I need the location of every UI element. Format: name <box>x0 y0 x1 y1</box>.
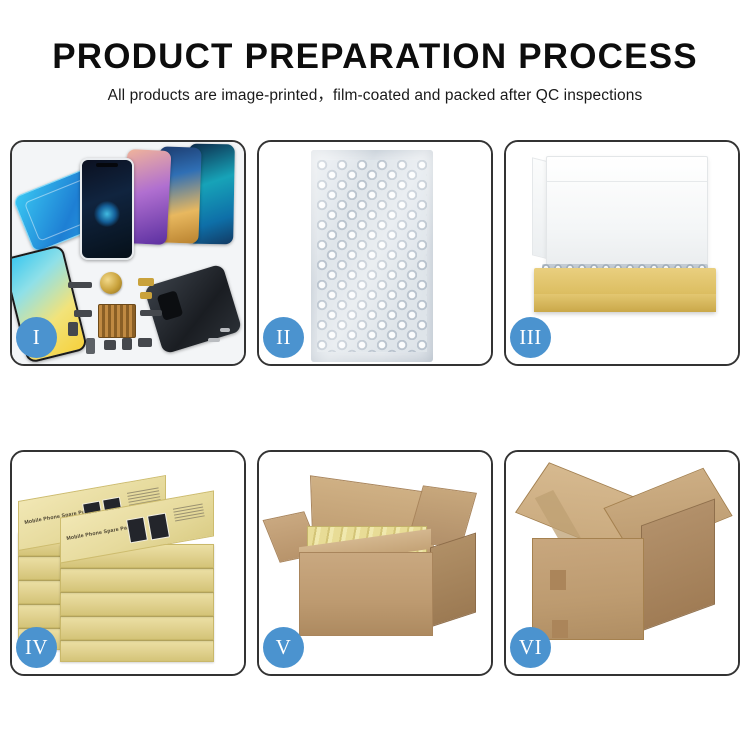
small-part-icon <box>138 338 152 347</box>
plastic-sheen <box>311 150 433 362</box>
carton-side-panel <box>430 533 476 628</box>
small-part-icon <box>104 340 116 350</box>
speaker-coil-icon <box>100 272 122 294</box>
bubble-wrap-icon <box>311 150 433 362</box>
step-badge-3: III <box>510 317 551 358</box>
stacked-box <box>60 640 214 662</box>
process-step-card-6: VI <box>504 450 740 676</box>
small-part-icon <box>68 282 92 288</box>
small-part-icon <box>122 338 132 350</box>
step-badge-5: V <box>263 627 304 668</box>
stacked-box <box>60 592 214 616</box>
process-step-grid: I II III <box>10 140 740 676</box>
process-step-card-3: III <box>504 140 740 366</box>
page-title: PRODUCT PREPARATION PROCESS <box>0 36 750 78</box>
small-part-icon <box>140 310 162 316</box>
screw-icon <box>208 338 220 342</box>
phone-black-screen-icon <box>80 158 134 260</box>
process-step-card-4: Mobile Phone Spare Parts Mobile Phone Sp… <box>10 450 246 676</box>
phone-housing-icon <box>144 264 243 355</box>
page-header: PRODUCT PREPARATION PROCESS All products… <box>0 36 750 106</box>
carton-front-panel <box>532 538 644 640</box>
stacked-box <box>60 568 214 592</box>
small-part-icon <box>140 292 152 299</box>
page-subtitle: All products are image-printed，film-coat… <box>0 86 750 106</box>
box-screen-graphic <box>126 517 148 544</box>
step-badge-2: II <box>263 317 304 358</box>
process-step-card-5: V <box>257 450 493 676</box>
stacked-box <box>60 616 214 640</box>
step-badge-6: VI <box>510 627 551 668</box>
small-part-icon <box>68 322 78 336</box>
process-step-card-2: II <box>257 140 493 366</box>
step-badge-4: IV <box>16 627 57 668</box>
box-front-lip <box>534 294 716 312</box>
small-part-icon <box>74 310 92 317</box>
step-badge-1: I <box>16 317 57 358</box>
chip-grid-icon <box>98 304 136 338</box>
box-screen-graphic <box>147 513 170 541</box>
carton-front-panel <box>299 552 433 636</box>
process-step-card-1: I <box>10 140 246 366</box>
carton-tab <box>552 620 568 638</box>
small-part-icon <box>86 338 95 354</box>
screw-icon <box>220 328 230 332</box>
carton-tab <box>550 570 566 590</box>
product-preparation-page: PRODUCT PREPARATION PROCESS All products… <box>0 0 750 750</box>
small-part-icon <box>138 278 154 286</box>
box-lid-icon <box>546 156 708 276</box>
